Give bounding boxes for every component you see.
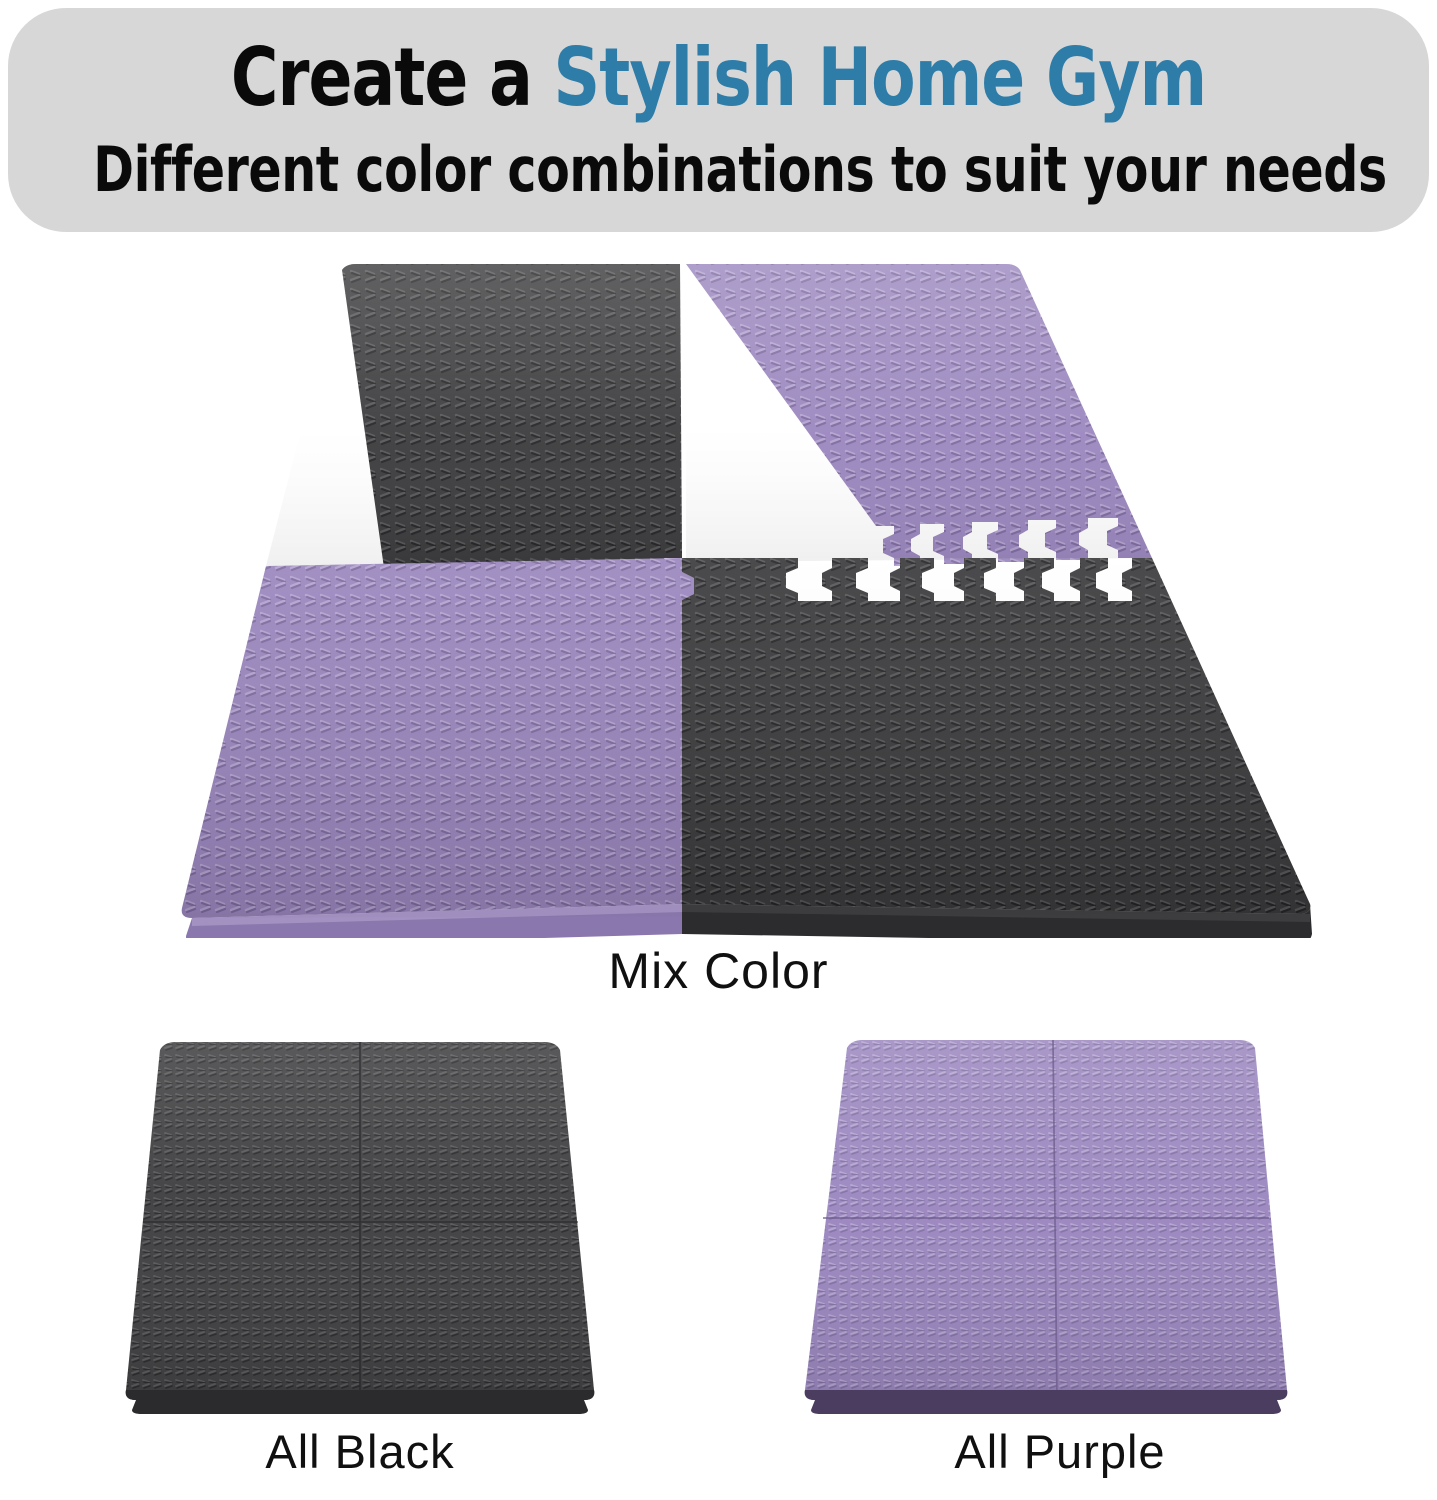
page-subtitle: Different color combinations to suit you… <box>93 134 1343 206</box>
all-purple-mat-image <box>795 1032 1295 1414</box>
caption-all-black: All Black <box>90 1424 630 1479</box>
title-text-plain: Create a <box>231 31 554 124</box>
all-black-mat-graphic <box>120 1032 600 1414</box>
caption-all-purple: All Purple <box>790 1424 1330 1479</box>
header-banner: Create a Stylish Home Gym Different colo… <box>8 8 1429 232</box>
all-purple-mat-graphic <box>795 1032 1295 1414</box>
mix-color-mat-image <box>170 258 1320 938</box>
caption-mix-color: Mix Color <box>0 942 1437 1000</box>
page-title: Create a Stylish Home Gym <box>79 32 1358 124</box>
all-black-mat-image <box>120 1032 600 1414</box>
mat-front-edge <box>805 1390 1288 1414</box>
mat-front-edge <box>126 1390 595 1414</box>
mix-color-mat-graphic <box>170 258 1320 938</box>
mat-vignette <box>170 258 1320 938</box>
title-text-accent: Stylish Home Gym <box>554 31 1207 124</box>
